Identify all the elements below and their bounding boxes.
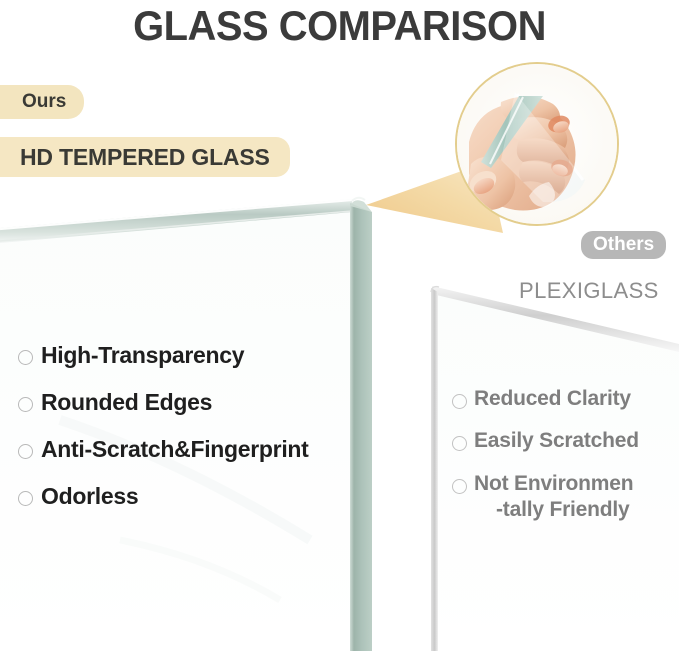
badge-hd-tempered-glass: HD TEMPERED GLASS — [0, 137, 290, 177]
badge-others: Others — [581, 231, 666, 259]
feature-label-continuation: -tally Friendly — [474, 497, 633, 523]
hand-holding-glass-photo — [457, 64, 619, 226]
others-feature-list: Reduced Clarity Easily Scratched Not Env… — [452, 386, 678, 539]
circle-outline-icon — [452, 436, 467, 451]
circle-outline-icon — [18, 491, 33, 506]
list-item: Anti-Scratch&Fingerprint — [18, 435, 378, 465]
badge-others-label: Others — [593, 234, 654, 256]
list-item: High-Transparency — [18, 341, 378, 371]
ours-feature-list: High-Transparency Rounded Edges Anti-Scr… — [18, 341, 378, 529]
circle-outline-icon — [452, 479, 467, 494]
badge-ours-label: Ours — [22, 91, 66, 113]
list-item: Easily Scratched — [452, 428, 678, 454]
feature-label-wrapped: Not Environmen -tally Friendly — [474, 471, 633, 524]
list-item: Not Environmen -tally Friendly — [452, 471, 678, 524]
badge-ours: Ours — [0, 85, 84, 119]
circle-outline-icon — [452, 394, 467, 409]
circle-outline-icon — [18, 444, 33, 459]
feature-label: Anti-Scratch&Fingerprint — [41, 435, 309, 465]
list-item: Odorless — [18, 482, 378, 512]
inset-ring — [455, 62, 619, 226]
infographic-canvas: GLASS COMPARISON — [0, 0, 679, 651]
plexiglass-label: PLEXIGLASS — [519, 278, 659, 304]
feature-label: High-Transparency — [41, 341, 244, 371]
badge-hd-label: HD TEMPERED GLASS — [20, 144, 270, 171]
feature-label: Rounded Edges — [41, 388, 212, 418]
feature-label: Reduced Clarity — [474, 386, 631, 412]
feature-label: Odorless — [41, 482, 138, 512]
feature-label: Not Environmen — [474, 472, 633, 495]
feature-label: Easily Scratched — [474, 428, 639, 454]
circle-outline-icon — [18, 350, 33, 365]
list-item: Reduced Clarity — [452, 386, 678, 412]
edge-closeup-inset — [455, 62, 619, 226]
circle-outline-icon — [18, 397, 33, 412]
list-item: Rounded Edges — [18, 388, 378, 418]
